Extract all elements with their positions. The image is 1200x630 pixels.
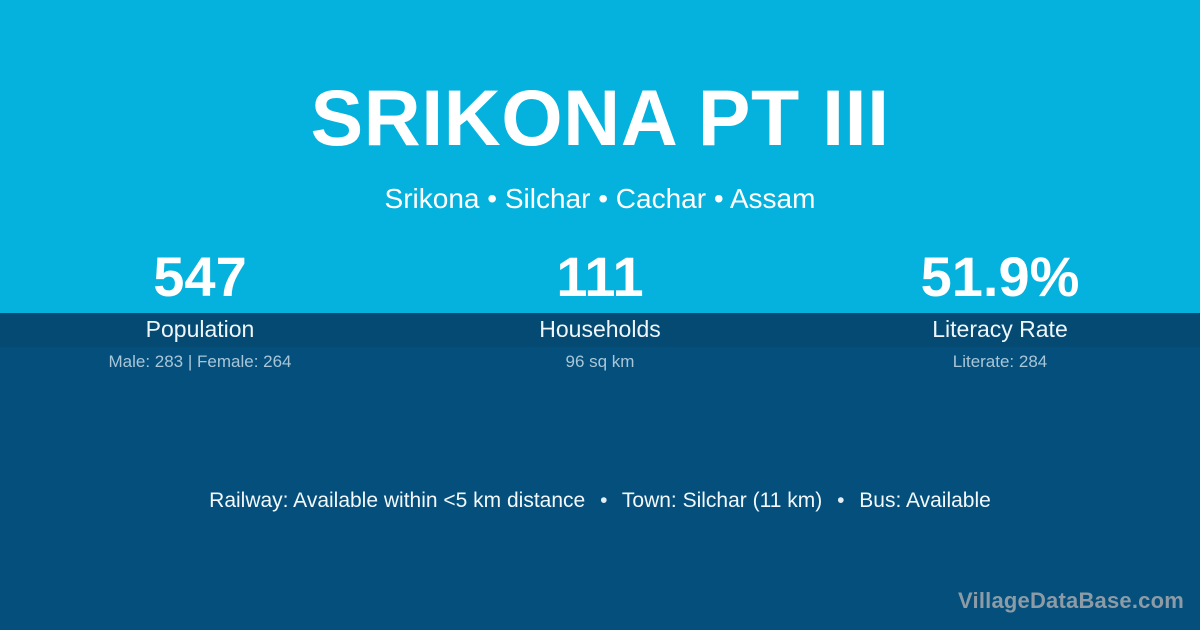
amenity-separator-2: • xyxy=(828,489,853,512)
stat-population: 547 Population Male: 283 | Female: 264 xyxy=(0,240,400,385)
stats-row: 547 Population Male: 283 | Female: 264 1… xyxy=(0,240,1200,385)
breadcrumb: Srikona • Silchar • Cachar • Assam xyxy=(0,181,1200,217)
amenity-railway: Railway: Available within <5 km distance xyxy=(209,489,585,512)
stat-population-value: 547 xyxy=(0,249,400,305)
stat-literacy-rate-sub: Literate: 284 xyxy=(800,352,1200,372)
amenity-separator-1: • xyxy=(591,489,616,512)
stat-literacy-rate: 51.9% Literacy Rate Literate: 284 xyxy=(800,240,1200,385)
stat-households-value: 111 xyxy=(400,249,800,305)
amenity-town: Town: Silchar (11 km) xyxy=(622,489,822,512)
stat-households: 111 Households 96 sq km xyxy=(400,240,800,385)
amenities-line: Railway: Available within <5 km distance… xyxy=(0,487,1200,514)
stat-households-label: Households xyxy=(400,316,800,344)
site-watermark: VillageDataBase.com xyxy=(958,588,1184,614)
stat-households-sub: 96 sq km xyxy=(400,352,800,372)
village-info-card: SRIKONA PT III Srikona • Silchar • Cacha… xyxy=(0,0,1200,630)
stat-population-sub: Male: 283 | Female: 264 xyxy=(0,352,400,372)
amenity-bus: Bus: Available xyxy=(859,489,991,512)
page-title: SRIKONA PT III xyxy=(0,78,1200,157)
stat-literacy-rate-label: Literacy Rate xyxy=(800,316,1200,344)
stat-population-label: Population xyxy=(0,316,400,344)
stat-literacy-rate-value: 51.9% xyxy=(800,249,1200,305)
